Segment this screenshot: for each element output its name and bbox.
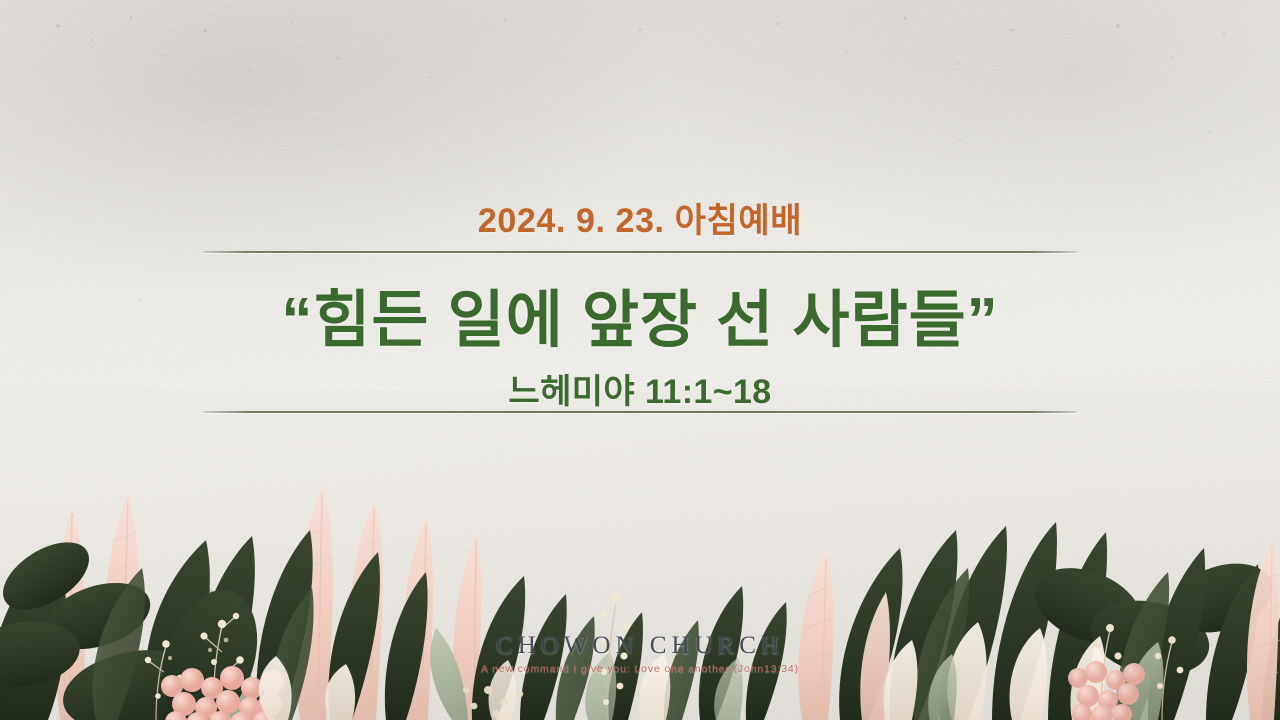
church-tagline: A new command I give you: Love one anoth…: [0, 663, 1280, 675]
foliage-right: [798, 522, 1280, 720]
service-date-line: 2024. 9. 23. 아침예배: [0, 193, 1280, 242]
foliage-left: [0, 486, 481, 720]
sermon-title: “힘든 일에 앞장 선 사람들”: [0, 269, 1280, 359]
church-name: CHOWON CHURCH: [0, 632, 1280, 660]
church-logo: CHOWON CHURCH A new command I give you: …: [0, 632, 1280, 675]
divider-rule-bottom: [203, 411, 1077, 413]
worship-slide: 2024. 9. 23. 아침예배 “힘든 일에 앞장 선 사람들” 느헤미야 …: [0, 0, 1280, 720]
divider-rule-top: [203, 251, 1077, 253]
scripture-reference: 느헤미야 11:1~18: [0, 364, 1280, 413]
